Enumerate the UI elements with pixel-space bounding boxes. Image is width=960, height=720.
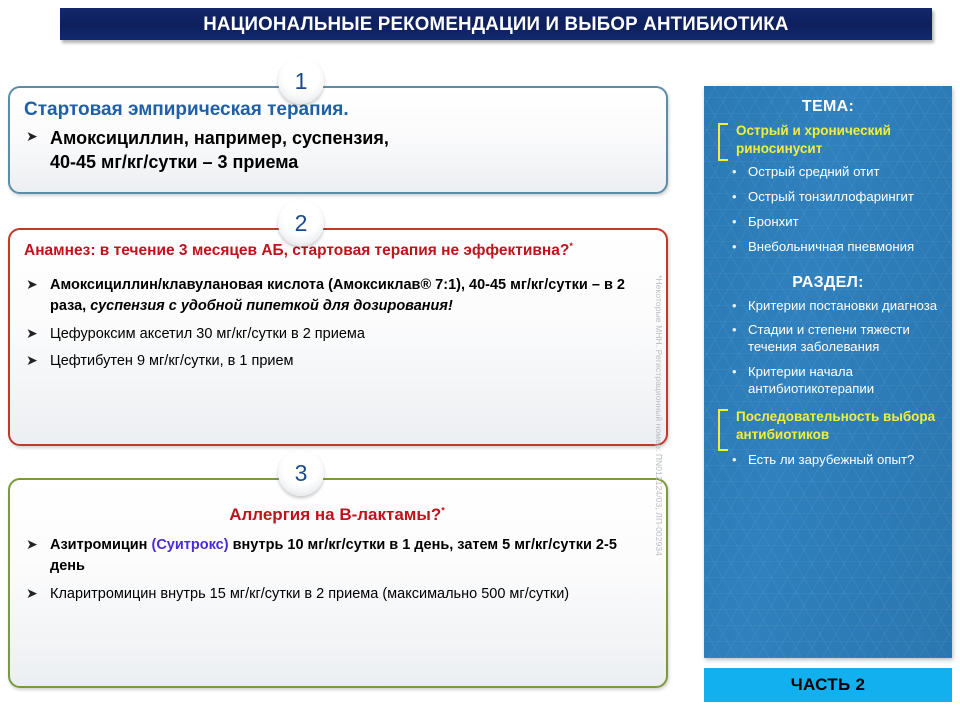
card-3-item-1-part-a: Азитромицин [50, 537, 151, 553]
sidebar-tema-highlight: Острый и хронический риносинусит [736, 123, 891, 156]
slide-header: НАЦИОНАЛЬНЫЕ РЕКОМЕНДАЦИИ И ВЫБОР АНТИБИ… [60, 8, 932, 40]
card-2-list: ➤ Амоксициллин/клавулановая кислота (Амо… [22, 275, 652, 372]
bullet-dot-icon: • [732, 214, 737, 231]
sidebar-razdel-item-2: Критерии начала антибиотикотерапии [748, 364, 874, 396]
bracket-icon [718, 409, 728, 451]
bullet-dot-icon: • [732, 164, 737, 181]
list-item: ➤ Амоксициллин/клавулановая кислота (Амо… [22, 275, 652, 317]
card-3-heading-text: Аллергия на В-лактамы? [229, 505, 441, 524]
card-1-heading: Стартовая эмпирическая терапия. [24, 99, 652, 121]
arrow-bullet-icon: ➤ [26, 325, 38, 343]
bracket-icon [718, 123, 728, 161]
sidebar-razdel-list: • Критерии постановки диагноза • Стадии … [728, 298, 942, 398]
card-step-2: Анамнез: в течение 3 месяцев АБ, стартов… [8, 228, 668, 446]
bullet-dot-icon: • [732, 189, 737, 206]
card-2-heading: Анамнез: в течение 3 месяцев АБ, стартов… [24, 241, 652, 261]
sidebar-razdel-highlight: Последовательность выбора антибиотиков [736, 409, 935, 442]
list-item: ➤ Цефтибутен 9 мг/кг/сутки, в 1 прием [22, 351, 652, 372]
bullet-dot-icon: • [732, 364, 737, 381]
card-2-item-1-part-b: суспензия с удобной пипеткой для дозиров… [90, 298, 453, 314]
bullet-dot-icon: • [732, 452, 737, 469]
sidebar-tema-item-3: Внебольничная пневмония [748, 239, 914, 254]
card-1-list: ➤ Амоксициллин, например, суспензия, 40-… [22, 127, 652, 175]
part-banner: ЧАСТЬ 2 [704, 668, 952, 702]
arrow-bullet-icon: ➤ [26, 585, 38, 603]
list-item: • Острый тонзиллофарингит [728, 189, 942, 206]
sidebar-razdel-item-0: Критерии постановки диагноза [748, 298, 937, 313]
sidebar-razdel-heading: РАЗДЕЛ: [714, 274, 942, 292]
card-1-item-line2: 40-45 мг/кг/сутки – 3 приема [50, 152, 298, 172]
sidebar-tema-highlight-row: Острый и хронический риносинусит [718, 122, 942, 158]
card-3-item-2: Кларитромицин внутрь 15 мг/кг/сутки в 2 … [50, 586, 569, 602]
part-label: ЧАСТЬ 2 [791, 675, 866, 695]
slide: НАЦИОНАЛЬНЫЕ РЕКОМЕНДАЦИИ И ВЫБОР АНТИБИ… [0, 0, 960, 720]
sidebar-razdel-item-1: Стадии и степени тяжести течения заболев… [748, 322, 910, 354]
list-item: • Есть ли зарубежный опыт? [728, 452, 942, 469]
arrow-bullet-icon: ➤ [26, 128, 38, 146]
sidebar-tema-item-1: Острый тонзиллофарингит [748, 189, 914, 204]
arrow-bullet-icon: ➤ [26, 536, 38, 554]
card-3-item-1-brand: (Суитрокс) [151, 537, 228, 553]
sidebar-razdel-highlight-row: Последовательность выбора антибиотиков [718, 408, 942, 444]
card-2-item-2: Цефуроксим аксетил 30 мг/кг/сутки в 2 пр… [50, 326, 365, 342]
sidebar-tema-list: • Острый средний отит • Острый тонзиллоф… [728, 164, 942, 256]
card-3-list: ➤ Азитромицин (Суитрокс) внутрь 10 мг/кг… [22, 535, 652, 604]
step-badge-3: 3 [278, 450, 324, 496]
arrow-bullet-icon: ➤ [26, 352, 38, 370]
list-item: • Стадии и степени тяжести течения забол… [728, 322, 942, 356]
list-item: ➤ Кларитромицин внутрь 15 мг/кг/сутки в … [22, 584, 652, 605]
list-item: • Критерии постановки диагноза [728, 298, 942, 315]
arrow-bullet-icon: ➤ [26, 276, 38, 294]
list-item: • Критерии начала антибиотикотерапии [728, 364, 942, 398]
card-2-heading-asterisk: * [569, 241, 573, 251]
sidebar-tema-heading: ТЕМА: [714, 98, 942, 116]
registration-footnote: *Некоторые МНН. Регистрационный номер: П… [654, 275, 664, 655]
sidebar-razdel-last-item-0: Есть ли зарубежный опыт? [748, 452, 914, 467]
list-item: ➤ Цефуроксим аксетил 30 мг/кг/сутки в 2 … [22, 324, 652, 345]
page-title: НАЦИОНАЛЬНЫЕ РЕКОМЕНДАЦИИ И ВЫБОР АНТИБИ… [203, 13, 788, 36]
list-item: ➤ Амоксициллин, например, суспензия, 40-… [22, 127, 652, 175]
card-2-item-3: Цефтибутен 9 мг/кг/сутки, в 1 прием [50, 353, 294, 369]
card-step-1: Стартовая эмпирическая терапия. ➤ Амокси… [8, 86, 668, 194]
list-item: ➤ Азитромицин (Суитрокс) внутрь 10 мг/кг… [22, 535, 652, 577]
bullet-dot-icon: • [732, 298, 737, 315]
card-1-item-line1: Амоксициллин, например, суспензия, [50, 128, 389, 148]
sidebar-panel: ТЕМА: Острый и хронический риносинусит •… [704, 86, 952, 658]
list-item: • Бронхит [728, 214, 942, 231]
card-3-heading-asterisk: * [441, 505, 445, 515]
card-3-heading: Аллергия на В-лактамы?* [22, 505, 652, 525]
sidebar-razdel-last-list: • Есть ли зарубежный опыт? [728, 452, 942, 469]
list-item: • Острый средний отит [728, 164, 942, 181]
main-content: 1 Стартовая эмпирическая терапия. ➤ Амок… [8, 56, 668, 696]
step-badge-1: 1 [278, 58, 324, 104]
bullet-dot-icon: • [732, 239, 737, 256]
list-item: • Внебольничная пневмония [728, 239, 942, 256]
sidebar-tema-item-0: Острый средний отит [748, 164, 880, 179]
bullet-dot-icon: • [732, 322, 737, 339]
card-step-3: Аллергия на В-лактамы?* ➤ Азитромицин (С… [8, 478, 668, 688]
step-badge-2: 2 [278, 200, 324, 246]
sidebar-tema-item-2: Бронхит [748, 214, 799, 229]
